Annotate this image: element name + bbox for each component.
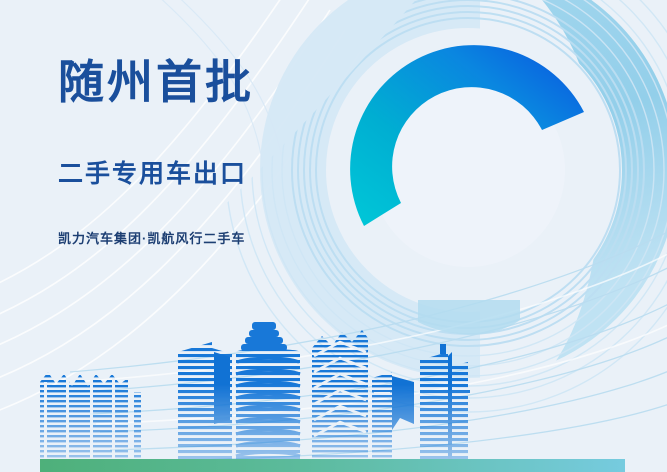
building-round-tower [236,322,300,460]
building-zigzag [312,330,368,460]
building-thin-1 [134,392,141,460]
page-subtitle: 二手专用车出口 [58,154,388,190]
page-caption: 凯力汽车集团·凯航风行二手车 [58,228,388,247]
page-title: 随州首批 [58,58,388,106]
building-accent-pair [372,372,414,460]
building-tower-slab-left [178,342,232,460]
gradient-ground-bar [40,459,625,472]
poster-canvas: 随州首批 二手专用车出口 凯力汽车集团·凯航风行二手车 [0,0,667,472]
building-right-towers [420,344,470,460]
text-block: 随州首批 二手专用车出口 凯力汽车集团·凯航风行二手车 [58,58,388,247]
building-left-cluster [40,372,128,460]
